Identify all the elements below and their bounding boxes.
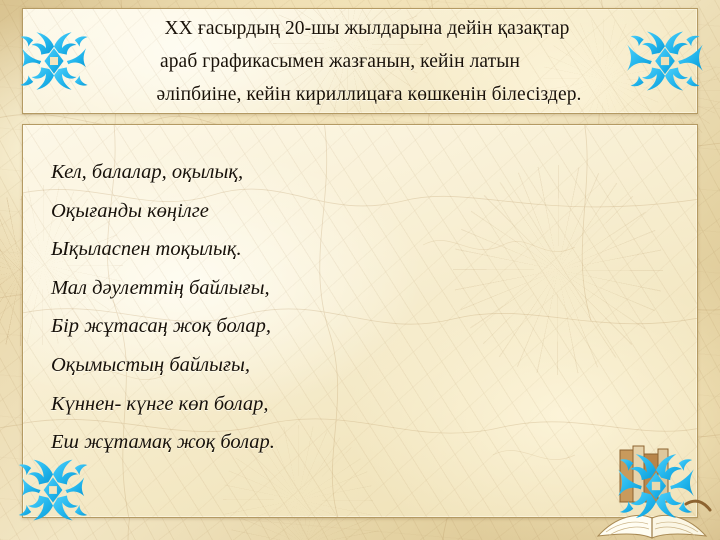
header-line-2: араб графикасымен жазғанын, кейін латын xyxy=(53,45,675,78)
open-book-image xyxy=(594,444,714,540)
poem-line: Мал дәулеттің байлығы, xyxy=(51,269,697,308)
header-line-1: XX ғасырдың 20-шы жылдарына дейін қазақт… xyxy=(53,12,675,45)
header-panel: XX ғасырдың 20-шы жылдарына дейін қазақт… xyxy=(22,8,698,114)
slide-root: XX ғасырдың 20-шы жылдарына дейін қазақт… xyxy=(0,0,720,540)
poem-line: Бір жұтасаң жоқ болар, xyxy=(51,307,697,346)
poem-line: Оқымыстың байлығы, xyxy=(51,346,697,385)
header-line-3: әліпбиіне, кейін кириллицаға көшкенін бі… xyxy=(53,78,675,111)
open-book-icon xyxy=(594,444,714,540)
poem-line: Ықыласпен тоқылық. xyxy=(51,230,697,269)
poem-line: Кел, балалар, оқылық, xyxy=(51,153,697,192)
poem-line: Оқығанды көңілге xyxy=(51,192,697,231)
header-text-block: XX ғасырдың 20-шы жылдарына дейін қазақт… xyxy=(23,9,697,111)
poem-line: Күннен- күнге көп болар, xyxy=(51,385,697,424)
poem-list: Кел, балалар, оқылық, Оқығанды көңілге Ы… xyxy=(23,125,697,462)
